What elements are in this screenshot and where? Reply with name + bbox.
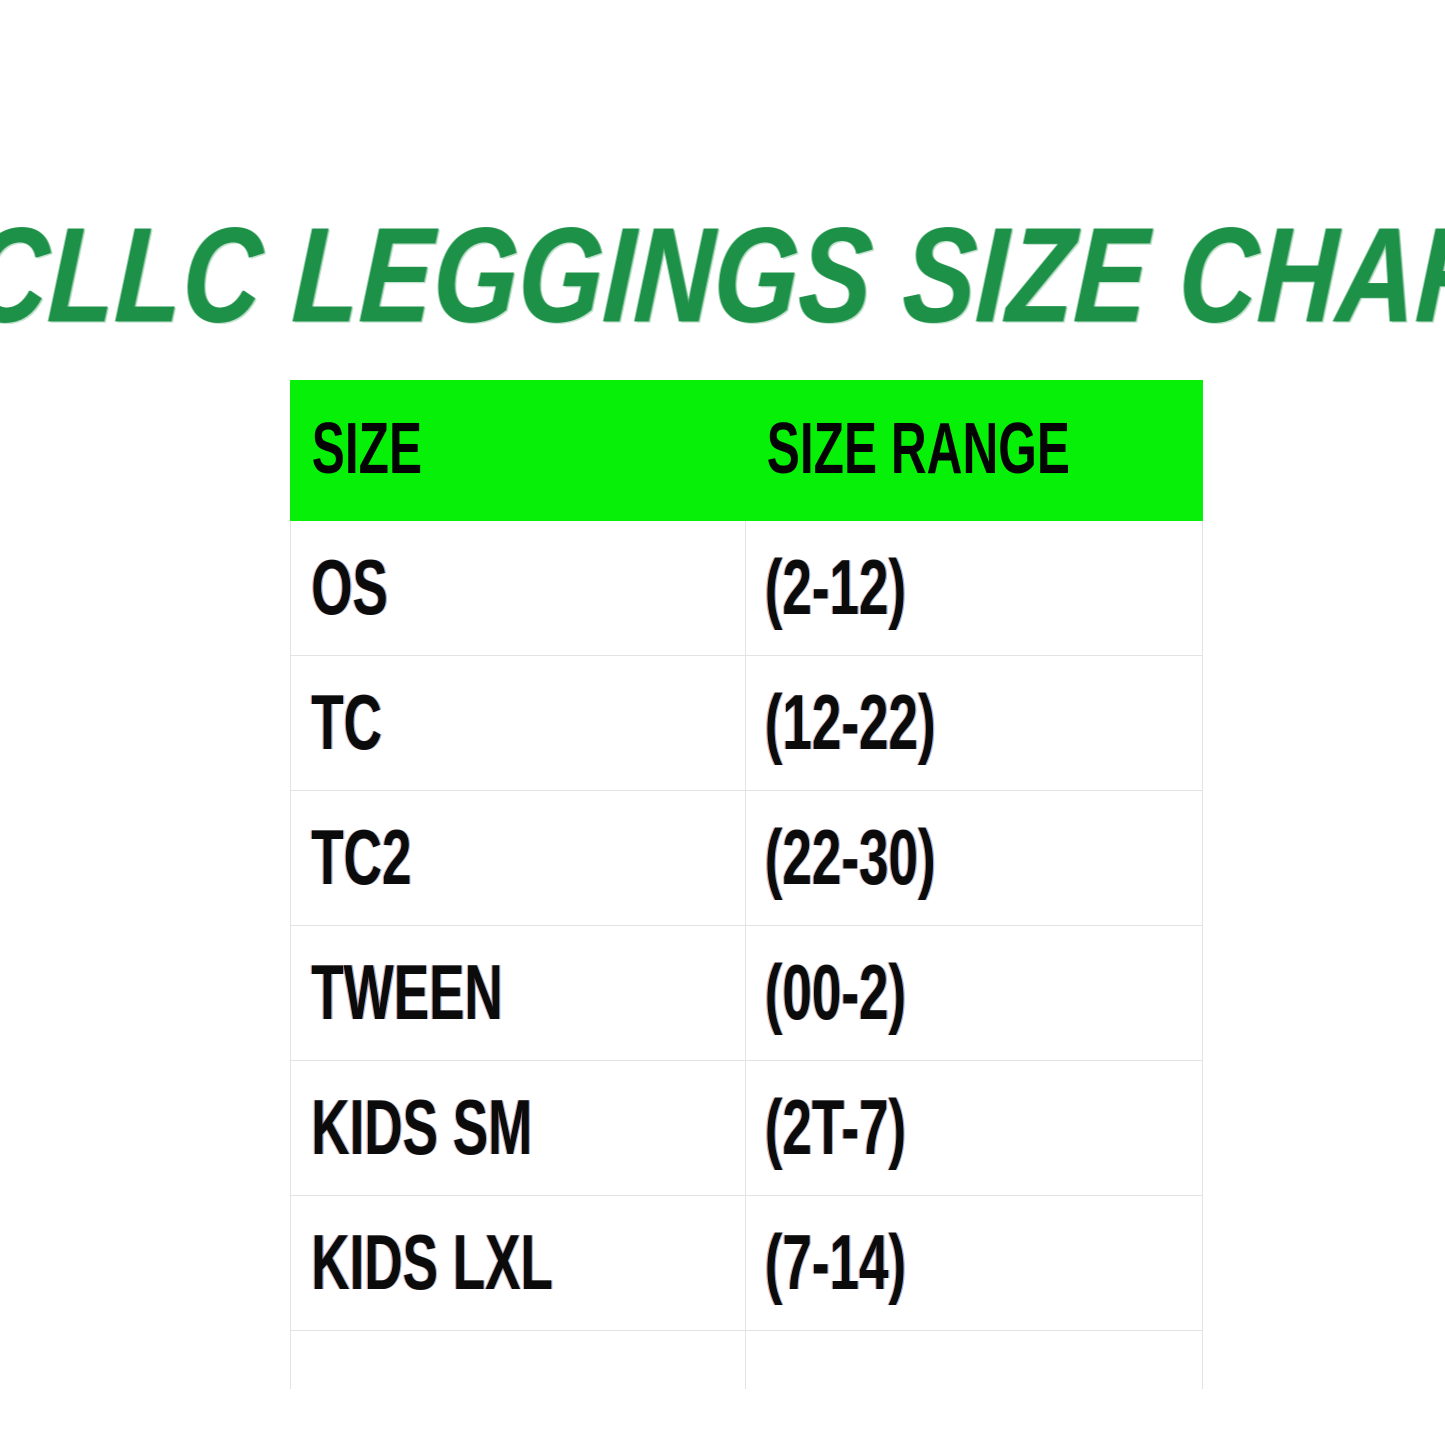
cell-size-range: (2T-7) [746, 1061, 1203, 1196]
table-row: KIDS LXL (7-14) [291, 1196, 1203, 1331]
cell-size-value: KIDS SM [291, 1089, 645, 1167]
cell-size-value: OS [291, 549, 645, 627]
table-row: OS (2-12) [291, 520, 1203, 656]
cell-size-value: TC [291, 684, 645, 762]
size-chart-page: GCLLC LEGGINGS SIZE CHART SIZE SIZE RANG… [0, 0, 1445, 1445]
cell-size-range: (7-14) [746, 1196, 1203, 1331]
cell-size-range: (22-30) [746, 791, 1203, 926]
cell-size: TC [291, 656, 746, 791]
cell-size: TWEEN [291, 926, 746, 1061]
table-row: TC (12-22) [291, 656, 1203, 791]
column-header-size-label: SIZE [291, 414, 654, 486]
column-header-size-range: SIZE RANGE [746, 381, 1203, 521]
cell-size-range: (12-22) [746, 656, 1203, 791]
cell-size-range-value: (2-12) [746, 549, 1102, 627]
table-header-row: SIZE SIZE RANGE [291, 381, 1203, 521]
cell-size-range-value: (7-14) [746, 1224, 1102, 1302]
table-row: KIDS SM (2T-7) [291, 1061, 1203, 1196]
page-title: GCLLC LEGGINGS SIZE CHART [0, 208, 1445, 343]
cell-size: KIDS SM [291, 1061, 746, 1196]
cell-size-range-value: (2T-7) [746, 1089, 1102, 1167]
cell-size-value: KIDS LXL [291, 1224, 645, 1302]
cell-size-range-value: (12-22) [746, 684, 1102, 762]
table-row-partial [291, 1331, 1203, 1390]
cell-size: TC2 [291, 791, 746, 926]
cell-size: OS [291, 520, 746, 656]
table-row: TC2 (22-30) [291, 791, 1203, 926]
cell-size [291, 1331, 746, 1390]
cell-size-value: TC2 [291, 819, 645, 897]
cell-size-range-value: (00-2) [746, 954, 1102, 1032]
size-chart-table: SIZE SIZE RANGE OS (2-12) TC [290, 380, 1203, 1389]
table-row: TWEEN (00-2) [291, 926, 1203, 1061]
column-header-size-range-label: SIZE RANGE [746, 414, 1111, 486]
cell-size-range: (00-2) [746, 926, 1203, 1061]
cell-size-range [746, 1331, 1203, 1390]
column-header-size: SIZE [291, 381, 746, 521]
page-title-container: GCLLC LEGGINGS SIZE CHART [0, 196, 1445, 356]
cell-size-range-value: (22-30) [746, 819, 1102, 897]
cell-size: KIDS LXL [291, 1196, 746, 1331]
cell-size-value: TWEEN [291, 954, 645, 1032]
cell-size-range: (2-12) [746, 520, 1203, 656]
